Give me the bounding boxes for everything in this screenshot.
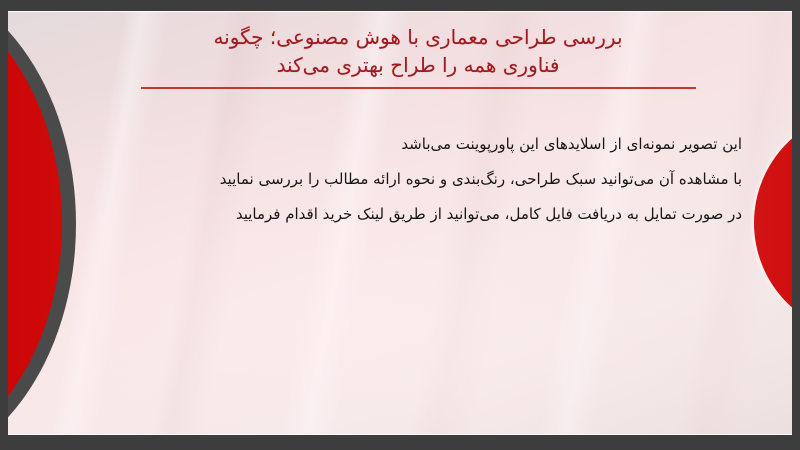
slide-title-line-2: فناوری همه را طراح بهتری می‌کند (128, 51, 708, 79)
slide-title-line-1: بررسی طراحی معماری با هوش مصنوعی؛ چگونه (128, 23, 708, 51)
presentation-slide: بررسی طراحی معماری با هوش مصنوعی؛ چگونه … (8, 11, 792, 435)
body-line-2: با مشاهده آن می‌توانید سبک طراحی، رنگ‌بن… (82, 162, 742, 197)
body-line-3: در صورت تمایل به دریافت فایل کامل، می‌تو… (82, 197, 742, 232)
body-line-1: این تصویر نمونه‌ای از اسلایدهای این پاور… (82, 127, 742, 162)
title-underline-rule (141, 87, 696, 89)
slide-viewer: بررسی طراحی معماری با هوش مصنوعی؛ چگونه … (0, 0, 800, 450)
slide-title: بررسی طراحی معماری با هوش مصنوعی؛ چگونه … (128, 23, 708, 79)
slide-body-text: این تصویر نمونه‌ای از اسلایدهای این پاور… (82, 127, 742, 232)
slide-bottom-edge-highlight (8, 434, 792, 435)
slide-top-edge-highlight (8, 11, 792, 12)
